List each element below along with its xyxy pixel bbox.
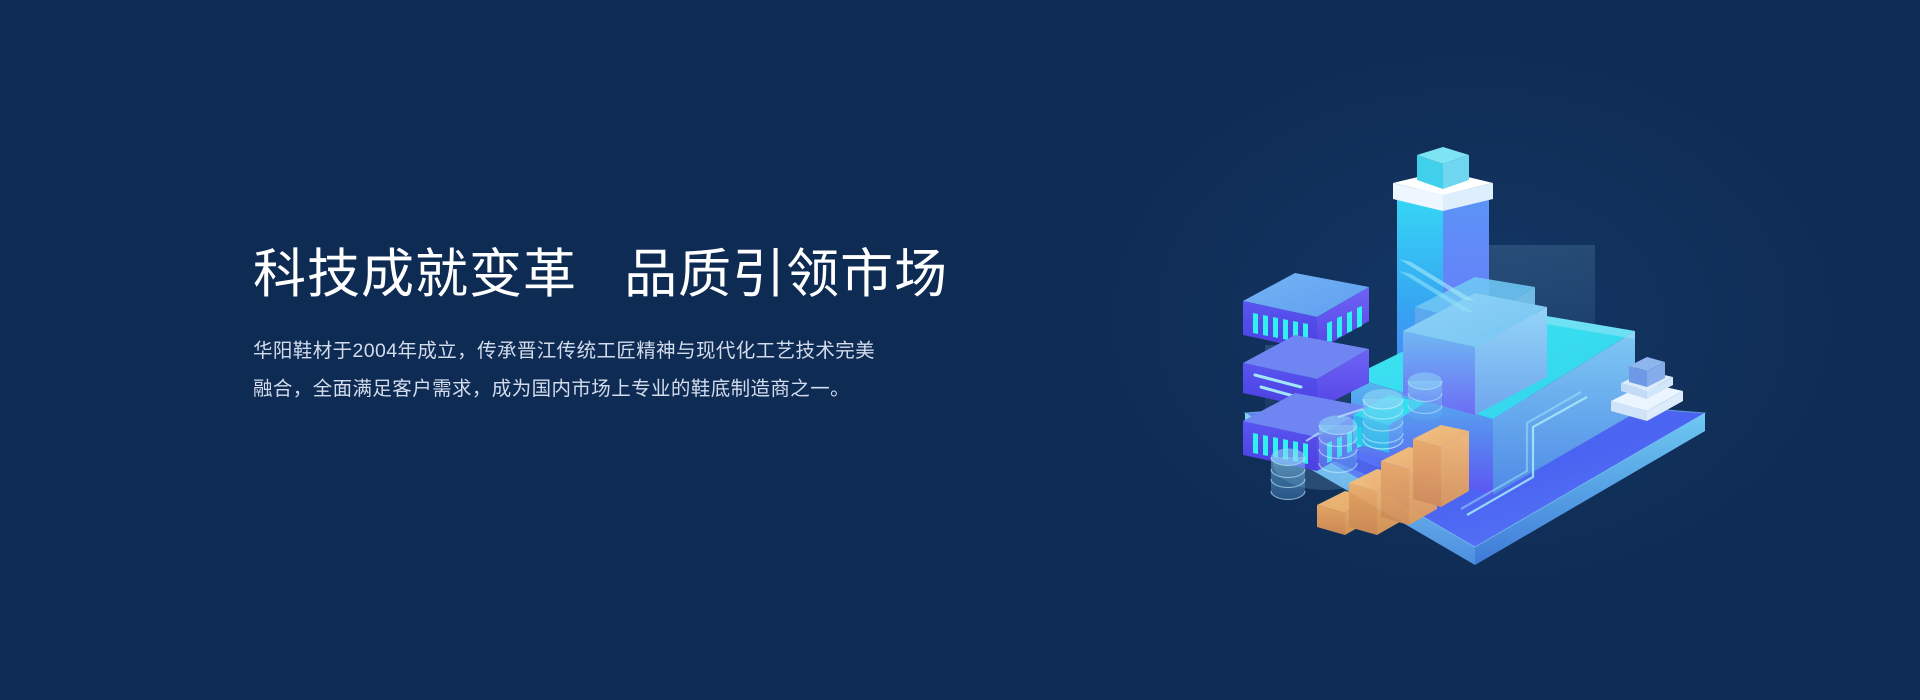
page-title: 科技成就变革 品质引领市场 [253, 246, 933, 303]
tank-b [1319, 416, 1357, 473]
isometric-factory-illustration [1175, 95, 1775, 565]
hero-description: 华阳鞋材于2004年成立，传承晋江传统工匠精神与现代化工艺技术完美融合，全面满足… [253, 332, 893, 408]
hero-text-block: 科技成就变革 品质引领市场 华阳鞋材于2004年成立，传承晋江传统工匠精神与现代… [253, 246, 933, 408]
tank-c [1271, 449, 1305, 500]
tank-a [1363, 389, 1403, 449]
bar-4 [1413, 425, 1469, 507]
tower-top-cube [1417, 147, 1469, 189]
hero-banner: 科技成就变革 品质引领市场 华阳鞋材于2004年成立，传承晋江传统工匠精神与现代… [0, 0, 1920, 700]
tank-d [1408, 373, 1442, 422]
